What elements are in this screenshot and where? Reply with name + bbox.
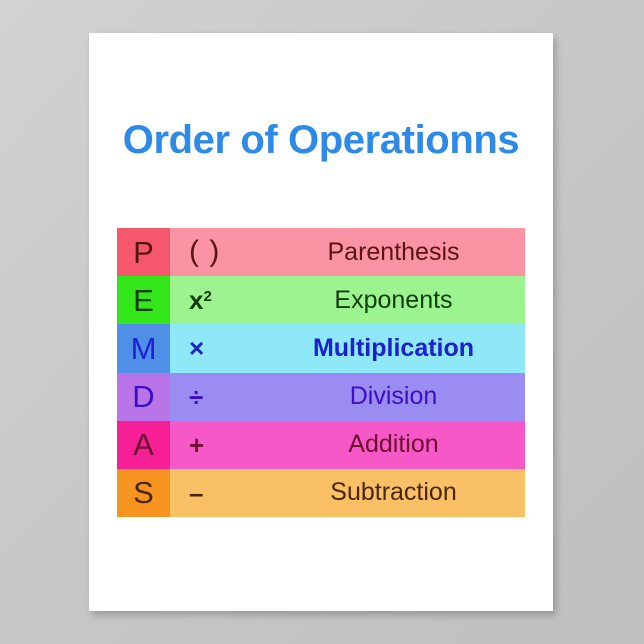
row-letter-cell: A	[117, 421, 170, 469]
row-letter: A	[133, 429, 154, 460]
table-row: A+Addition	[117, 421, 525, 469]
row-body: ÷Division	[170, 373, 525, 421]
table-row: Ex2Exponents	[117, 276, 525, 324]
poster-canvas: Order of Operationns P( )ParenthesisEx2E…	[89, 33, 553, 611]
table-row: P( )Parenthesis	[117, 228, 525, 276]
row-word: Division	[350, 384, 438, 409]
row-body: ×Multiplication	[170, 324, 525, 372]
row-body: +Addition	[170, 421, 525, 469]
row-letter: P	[133, 237, 154, 268]
row-letter-cell: P	[117, 228, 170, 276]
row-letter: E	[133, 285, 154, 316]
row-symbol: ÷	[189, 384, 203, 410]
row-symbol-cell: ×	[170, 335, 278, 361]
row-word-cell: Addition	[278, 432, 525, 457]
row-symbol-cell: ÷	[170, 384, 278, 410]
row-body: x2Exponents	[170, 276, 525, 324]
row-letter-cell: S	[117, 469, 170, 517]
row-symbol-cell: x2	[170, 287, 278, 313]
row-word: Exponents	[334, 288, 452, 313]
table-row: S–Subtraction	[117, 469, 525, 517]
row-word-cell: Parenthesis	[278, 240, 525, 265]
row-body: ( )Parenthesis	[170, 228, 525, 276]
row-letter-cell: E	[117, 276, 170, 324]
row-symbol: ×	[189, 335, 204, 361]
row-word-cell: Subtraction	[278, 480, 525, 505]
row-word-cell: Exponents	[278, 288, 525, 313]
row-word: Multiplication	[313, 336, 474, 361]
row-symbol-cell: ( )	[170, 237, 278, 267]
poster-scene: Order of Operationns P( )ParenthesisEx2E…	[0, 0, 644, 644]
row-word-cell: Division	[278, 384, 525, 409]
table-row: M×Multiplication	[117, 324, 525, 372]
row-letter: M	[131, 333, 157, 364]
row-symbol: x	[189, 287, 203, 313]
row-letter: D	[132, 381, 154, 412]
row-word: Subtraction	[330, 480, 456, 505]
row-symbol-cell: +	[170, 432, 278, 458]
row-letter-cell: D	[117, 373, 170, 421]
row-symbol-cell: –	[170, 480, 278, 506]
page-title: Order of Operationns	[89, 118, 553, 162]
row-letter-cell: M	[117, 324, 170, 372]
row-word-cell: Multiplication	[278, 336, 525, 361]
row-symbol: +	[189, 432, 204, 458]
row-letter: S	[133, 477, 154, 508]
row-symbol: ( )	[189, 237, 220, 267]
row-body: –Subtraction	[170, 469, 525, 517]
pemdas-table: P( )ParenthesisEx2ExponentsM×Multiplicat…	[117, 228, 525, 517]
row-word: Addition	[348, 432, 438, 457]
row-word: Parenthesis	[327, 240, 459, 265]
row-symbol: –	[189, 480, 203, 506]
table-row: D÷Division	[117, 373, 525, 421]
